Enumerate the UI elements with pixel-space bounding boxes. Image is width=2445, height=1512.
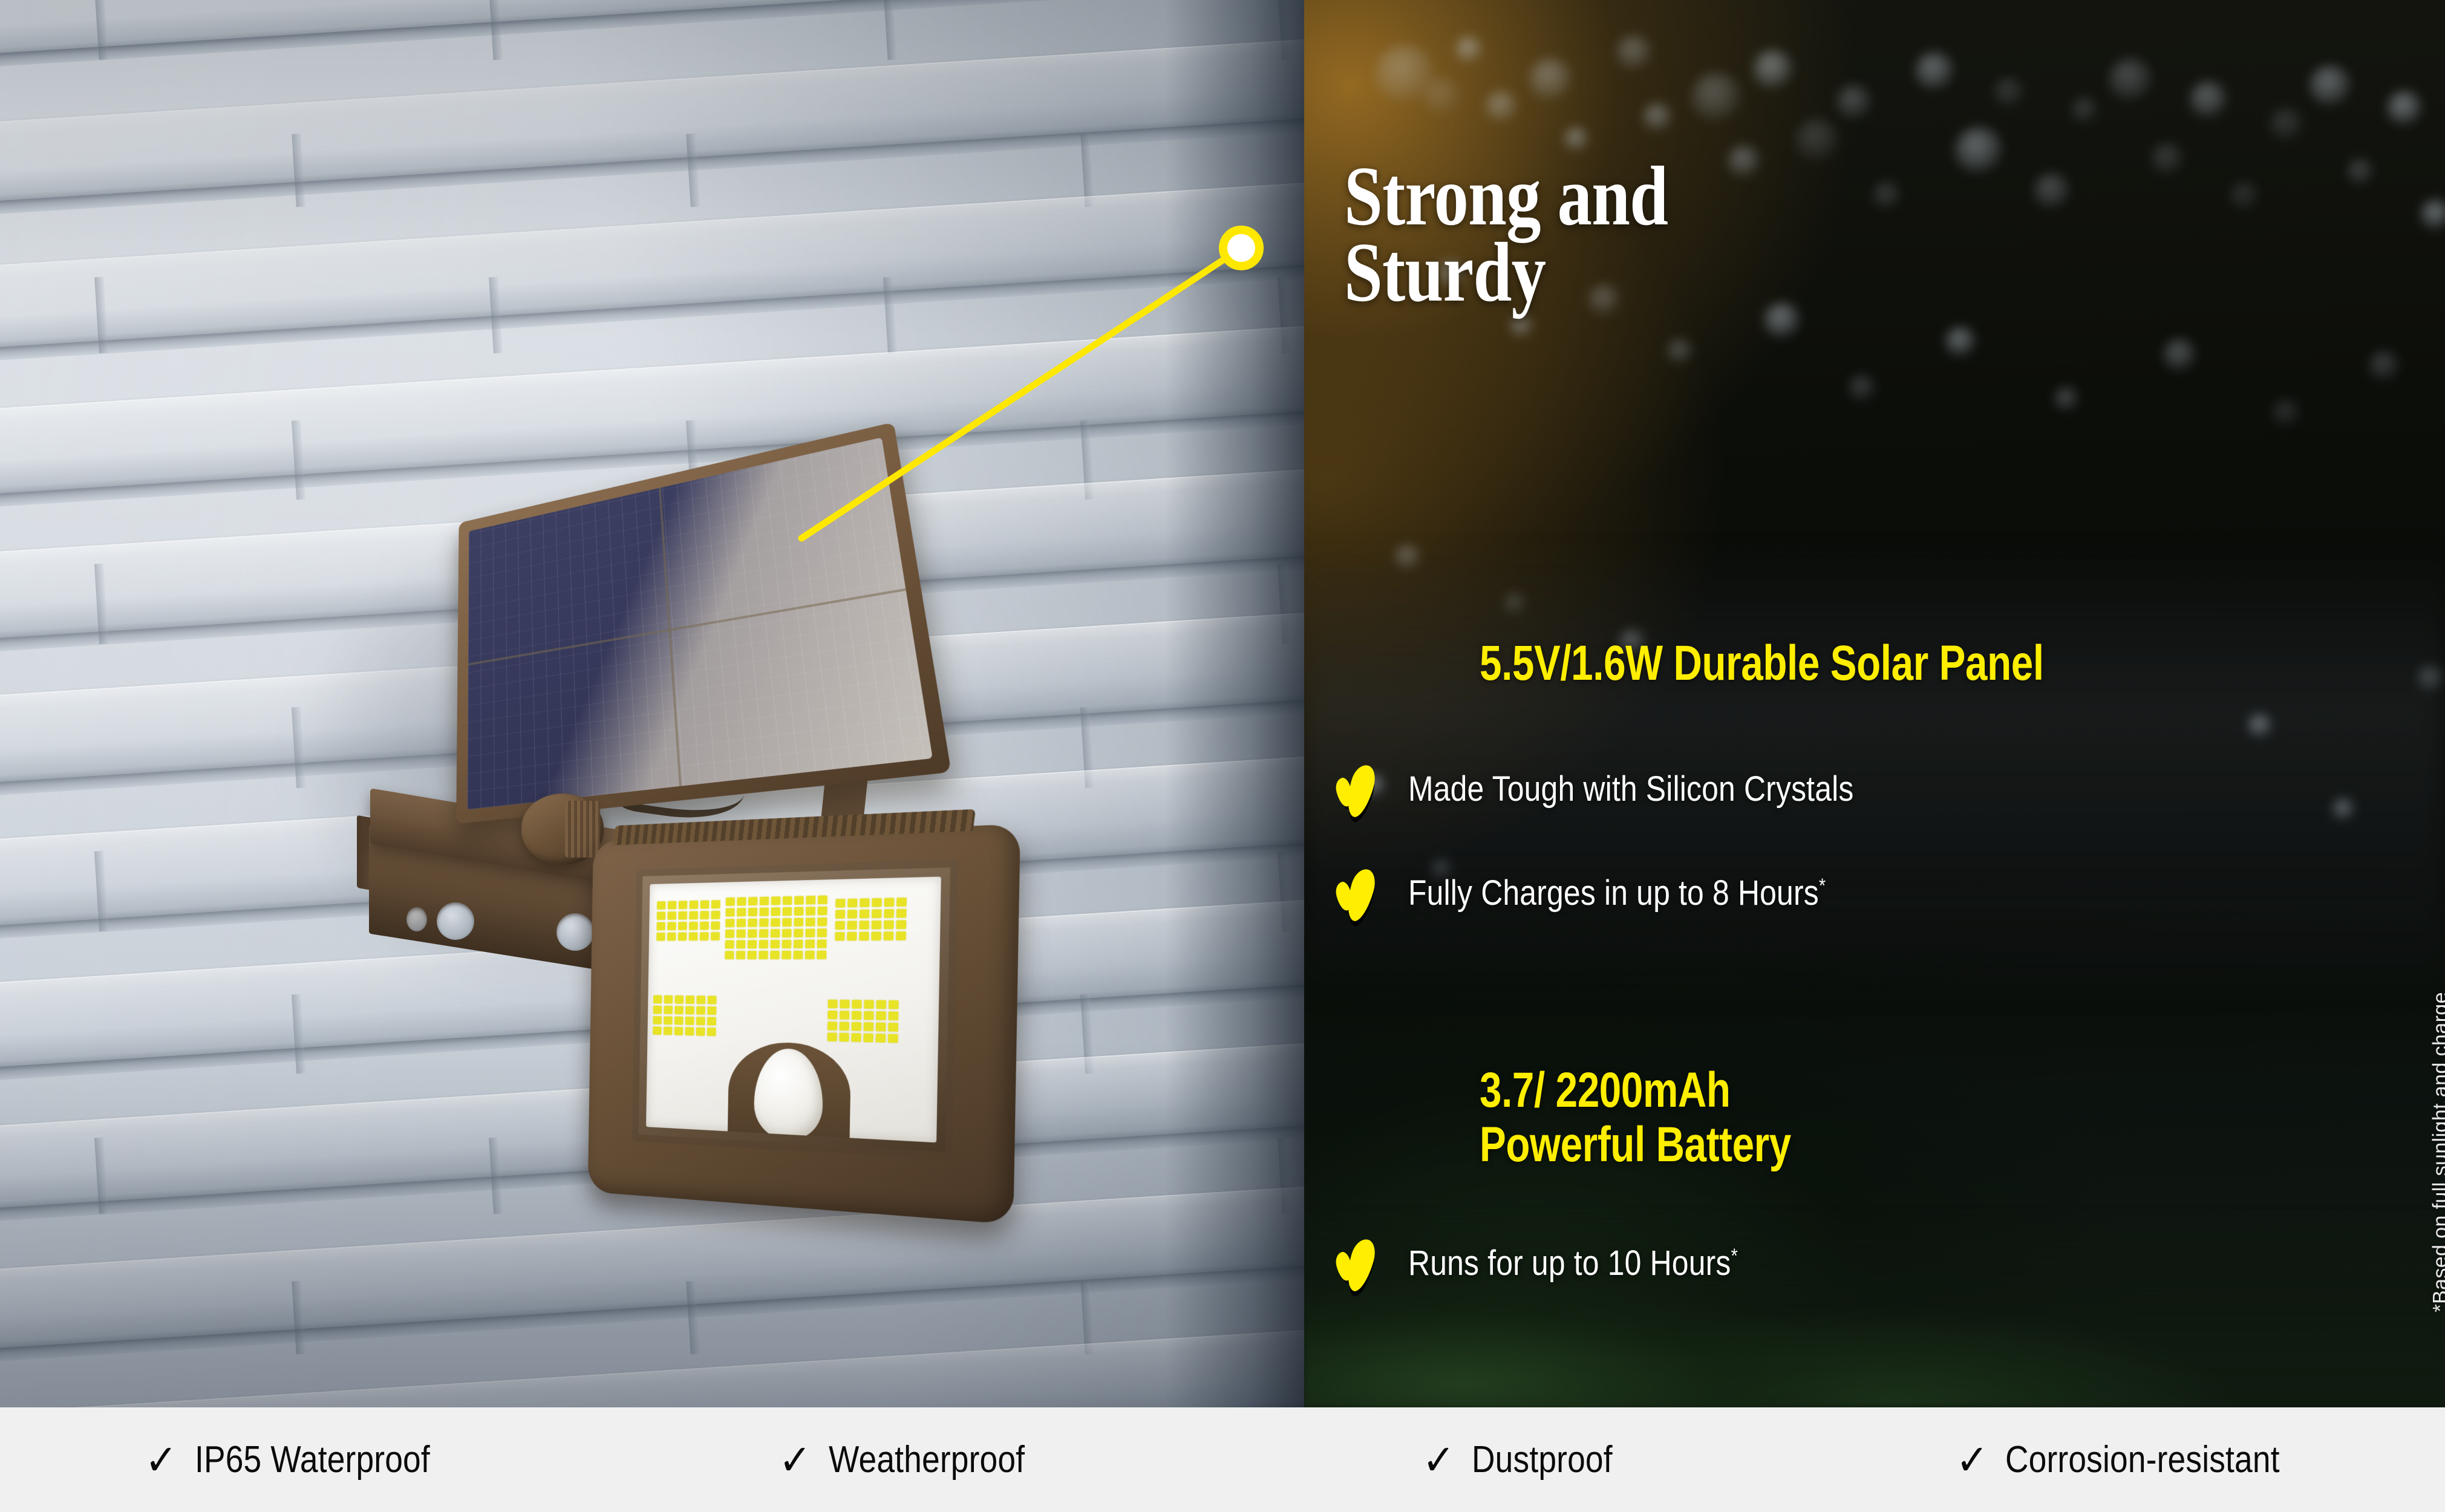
led-chip xyxy=(748,940,757,948)
led-chip xyxy=(759,918,768,927)
led-chip xyxy=(771,940,780,948)
led-chip xyxy=(674,1027,684,1035)
check-icon: ✓ xyxy=(145,1439,177,1481)
bokeh-dot xyxy=(1691,73,1741,122)
led-chip xyxy=(805,940,815,948)
led-chip xyxy=(794,951,803,959)
led-chip xyxy=(664,1016,672,1025)
led-chip xyxy=(828,1022,837,1030)
led-chip xyxy=(679,901,688,909)
check-leaf-icon xyxy=(1336,1235,1376,1291)
led-chip xyxy=(884,921,894,930)
led-chip xyxy=(889,1011,899,1020)
bokeh-dot xyxy=(1945,327,1976,357)
bokeh-dot xyxy=(2163,339,2196,371)
led-cluster xyxy=(656,900,720,940)
led-chip xyxy=(818,907,828,915)
led-chip xyxy=(707,1028,716,1036)
led-chip xyxy=(707,1017,716,1026)
led-chip xyxy=(685,1017,694,1025)
led-chip xyxy=(700,922,709,930)
led-chip xyxy=(737,908,746,916)
led-chip xyxy=(876,1034,886,1043)
spec-heading-battery: 3.7/ 2200mAh Powerful Battery xyxy=(1480,1063,1791,1172)
led-chip xyxy=(736,940,745,949)
bokeh-dot xyxy=(2071,97,2098,123)
led-chip xyxy=(889,1000,899,1009)
bokeh-dot xyxy=(1849,375,1875,402)
led-chip xyxy=(805,951,815,959)
led-chip xyxy=(760,897,769,905)
led-chip xyxy=(657,901,665,910)
led-chip xyxy=(896,920,906,929)
bokeh-dot xyxy=(1486,91,1517,122)
solar-flood-light-product xyxy=(0,0,1304,1407)
led-chip xyxy=(770,951,779,959)
led-chip xyxy=(818,896,828,904)
led-chip xyxy=(794,896,804,904)
led-chip xyxy=(667,933,676,941)
led-chip xyxy=(835,899,845,908)
led-chip xyxy=(859,932,869,940)
led-chip xyxy=(725,919,734,927)
led-chip xyxy=(794,929,803,937)
led-chip xyxy=(674,1017,684,1025)
led-cluster xyxy=(835,898,906,940)
bokeh-dot xyxy=(2230,181,2259,210)
bokeh-dot xyxy=(1795,119,1839,162)
check-leaf-icon xyxy=(1336,865,1376,921)
bracket-mount-hole xyxy=(437,902,474,940)
led-chip xyxy=(888,1023,898,1032)
led-chip xyxy=(876,1011,886,1020)
led-chip xyxy=(653,1006,662,1014)
bokeh-dot xyxy=(1423,77,1460,115)
led-chip xyxy=(852,1022,861,1031)
led-chip xyxy=(726,908,735,917)
led-chip xyxy=(678,933,687,941)
led-chip xyxy=(847,921,857,930)
led-chip xyxy=(689,922,698,930)
led-chip xyxy=(794,907,804,916)
led-chip xyxy=(708,996,717,1005)
led-chip xyxy=(847,899,857,908)
bullet-item-charge-time: Fully Charges in up to 8 Hours* xyxy=(1336,865,1894,921)
feature-label: Corrosion-resistant xyxy=(2005,1438,2280,1481)
led-chip xyxy=(794,918,803,927)
led-chip xyxy=(696,996,705,1004)
led-chip xyxy=(864,1011,873,1020)
led-chip xyxy=(700,911,709,919)
led-chip xyxy=(700,932,709,940)
led-chip xyxy=(864,1000,873,1009)
led-chip xyxy=(852,1000,861,1009)
bokeh-dot xyxy=(1753,50,1793,90)
bullet-label: Fully Charges in up to 8 Hours* xyxy=(1408,873,1826,913)
bokeh-dot xyxy=(1667,339,1693,364)
solar-panel xyxy=(456,422,951,824)
led-chip xyxy=(771,907,780,916)
bullet-label: Made Tough with Silicon Crystals xyxy=(1408,769,1853,809)
led-chip xyxy=(736,951,745,959)
led-chip xyxy=(668,901,676,910)
bokeh-dot xyxy=(2151,143,2184,175)
led-chip xyxy=(817,928,827,937)
check-icon: ✓ xyxy=(1422,1439,1455,1481)
bokeh-dot xyxy=(1529,58,1572,100)
led-chip xyxy=(653,1016,662,1025)
feature-label: IP65 Waterproof xyxy=(195,1438,430,1481)
bokeh-dot xyxy=(2054,387,2078,411)
led-chip xyxy=(782,940,792,948)
led-chip xyxy=(760,908,769,916)
bokeh-dot xyxy=(2272,399,2300,427)
check-icon: ✓ xyxy=(779,1439,811,1481)
led-chip xyxy=(840,1011,849,1020)
led-chip xyxy=(806,907,815,915)
led-chip xyxy=(725,951,734,959)
led-chip xyxy=(771,918,780,927)
bullet-label: Runs for up to 10 Hours* xyxy=(1408,1243,1738,1283)
led-chip xyxy=(860,898,869,907)
led-chip xyxy=(835,910,845,918)
led-chip xyxy=(817,951,826,959)
bracket-mount-hole xyxy=(557,913,594,951)
led-chip xyxy=(748,919,757,927)
led-chip xyxy=(656,933,665,941)
led-chip xyxy=(840,1022,849,1031)
led-chip xyxy=(782,918,792,927)
led-cluster xyxy=(653,996,716,1037)
led-chip xyxy=(748,908,757,916)
feature-item-ip65-waterproof: ✓ IP65 Waterproof xyxy=(0,1438,612,1481)
bokeh-dot xyxy=(1616,35,1651,70)
led-chip xyxy=(696,1017,705,1025)
led-chip xyxy=(689,932,698,940)
led-chip xyxy=(860,921,869,930)
led-chip xyxy=(685,996,694,1004)
led-chip xyxy=(872,909,881,918)
led-chip xyxy=(707,1006,716,1015)
led-chip xyxy=(748,930,757,938)
led-chip xyxy=(653,996,662,1004)
led-chip xyxy=(711,911,720,919)
led-face-plate xyxy=(646,876,941,1142)
led-chip xyxy=(759,929,768,937)
feature-label: Dustproof xyxy=(1472,1438,1613,1481)
led-chip xyxy=(783,907,792,916)
led-chip xyxy=(685,1006,694,1015)
page-title: Strong and Sturdy xyxy=(1344,158,1890,311)
led-chip xyxy=(876,1000,887,1009)
led-chip xyxy=(835,921,845,930)
bokeh-dot xyxy=(2387,91,2422,126)
led-chip xyxy=(737,919,746,927)
led-chip xyxy=(725,940,734,949)
bokeh-dot xyxy=(1915,52,1954,91)
feature-item-weatherproof: ✓ Weatherproof xyxy=(612,1438,1223,1481)
led-chip xyxy=(696,1028,705,1036)
led-chip xyxy=(871,932,881,941)
bracket-mount-hole xyxy=(406,907,427,931)
bokeh-dot xyxy=(2417,665,2444,692)
bokeh-dot xyxy=(2190,81,2227,119)
bokeh-dot xyxy=(2310,65,2351,106)
led-chip xyxy=(685,1027,694,1035)
tilt-adjustment-knob xyxy=(521,793,604,865)
bokeh-dot xyxy=(1395,544,1420,570)
led-cluster xyxy=(725,896,827,959)
led-chip xyxy=(847,932,857,940)
led-chip xyxy=(876,1023,886,1032)
bokeh-dot xyxy=(2369,351,2399,381)
bokeh-dot xyxy=(2332,798,2354,820)
led-chip xyxy=(771,929,780,937)
led-chip xyxy=(884,931,894,940)
led-chip xyxy=(689,911,698,920)
led-chip xyxy=(852,1011,861,1020)
led-chip xyxy=(657,922,665,931)
led-chip xyxy=(748,951,757,959)
led-chip xyxy=(771,896,780,905)
led-chip xyxy=(664,1027,672,1035)
led-chip xyxy=(896,909,907,918)
led-chip xyxy=(884,898,895,907)
led-chip xyxy=(759,951,768,959)
solar-panel-frame xyxy=(456,422,951,824)
led-chip xyxy=(678,922,687,930)
led-chip xyxy=(783,896,792,905)
led-chip xyxy=(896,931,906,940)
led-chip xyxy=(759,940,768,948)
footnote-disclaimer: *Based on full sunlight and charge xyxy=(2429,992,2445,1312)
led-chip xyxy=(840,1000,849,1008)
led-chip xyxy=(835,932,844,940)
led-chip xyxy=(748,897,757,905)
led-chip xyxy=(674,1006,684,1014)
led-chip xyxy=(863,1034,873,1043)
led-chip xyxy=(864,1022,873,1031)
led-chip xyxy=(725,930,734,938)
led-chip xyxy=(711,900,720,908)
spec-heading-solar-panel: 5.5V/1.6W Durable Solar Panel xyxy=(1480,636,2044,691)
led-chip xyxy=(828,1032,837,1041)
bokeh-dot xyxy=(1504,593,1526,614)
feature-bar: ✓ IP65 Waterproof ✓ Weatherproof ✓ Dustp… xyxy=(0,1407,2445,1512)
led-chip xyxy=(678,911,687,920)
feature-label: Weatherproof xyxy=(829,1438,1025,1481)
bokeh-dot xyxy=(2347,158,2374,185)
bokeh-dot xyxy=(1836,85,1872,120)
led-chip xyxy=(872,898,881,907)
led-chip xyxy=(653,1026,661,1035)
bullet-item-silicon-crystals: Made Tough with Silicon Crystals xyxy=(1336,761,1926,816)
led-chip xyxy=(696,1006,705,1015)
led-chip xyxy=(736,930,745,938)
bokeh-dot xyxy=(1994,77,2024,108)
led-chip xyxy=(794,940,803,948)
led-chip xyxy=(828,1000,838,1008)
led-chip xyxy=(828,1011,837,1019)
led-chip xyxy=(737,897,746,905)
bokeh-dot xyxy=(1564,127,1588,151)
check-leaf-icon xyxy=(1336,761,1376,816)
led-chip xyxy=(817,940,827,948)
led-chip xyxy=(860,910,869,919)
led-chip xyxy=(896,898,907,907)
solar-cell-grid xyxy=(468,437,933,809)
check-icon: ✓ xyxy=(1956,1439,1988,1481)
led-chip xyxy=(657,911,665,920)
led-chip xyxy=(711,932,720,940)
led-chip xyxy=(872,921,881,930)
bokeh-dot xyxy=(2109,58,2152,102)
bokeh-dot xyxy=(2270,108,2303,142)
led-chip xyxy=(690,901,699,909)
led-chip xyxy=(851,1033,861,1042)
bokeh-dot xyxy=(1955,127,2002,174)
bokeh-dot xyxy=(1455,36,1482,63)
bokeh-dot xyxy=(1643,103,1672,132)
led-chip xyxy=(675,996,684,1004)
product-infographic: Strong and Sturdy 5.5V/1.6W Durable Sola… xyxy=(0,0,2445,1512)
led-chip xyxy=(888,1034,898,1043)
solar-panel-glass xyxy=(468,437,933,809)
led-chip xyxy=(700,901,710,909)
led-chip xyxy=(782,951,791,959)
led-chip xyxy=(847,910,857,919)
feature-item-corrosion-resistant: ✓ Corrosion-resistant xyxy=(1834,1438,2445,1481)
led-chip xyxy=(664,996,673,1004)
led-chip xyxy=(806,896,815,904)
feature-item-dustproof: ✓ Dustproof xyxy=(1222,1438,1834,1481)
led-chip xyxy=(664,1006,672,1014)
led-chip xyxy=(805,929,815,937)
led-chip xyxy=(668,911,676,920)
led-chip xyxy=(817,917,827,926)
bokeh-dot xyxy=(2248,714,2272,738)
led-chip xyxy=(726,898,735,906)
led-chip xyxy=(782,929,792,937)
led-chip xyxy=(839,1033,849,1042)
led-chip xyxy=(667,922,676,930)
product-photo-left xyxy=(0,0,1304,1407)
led-chip xyxy=(711,922,720,930)
bokeh-dot xyxy=(2034,173,2070,209)
led-lamp-head xyxy=(588,824,1020,1224)
led-cluster xyxy=(828,1000,899,1043)
bullet-item-runtime: Runs for up to 10 Hours* xyxy=(1336,1235,1792,1291)
led-chip xyxy=(806,917,815,926)
led-chip xyxy=(884,909,894,918)
